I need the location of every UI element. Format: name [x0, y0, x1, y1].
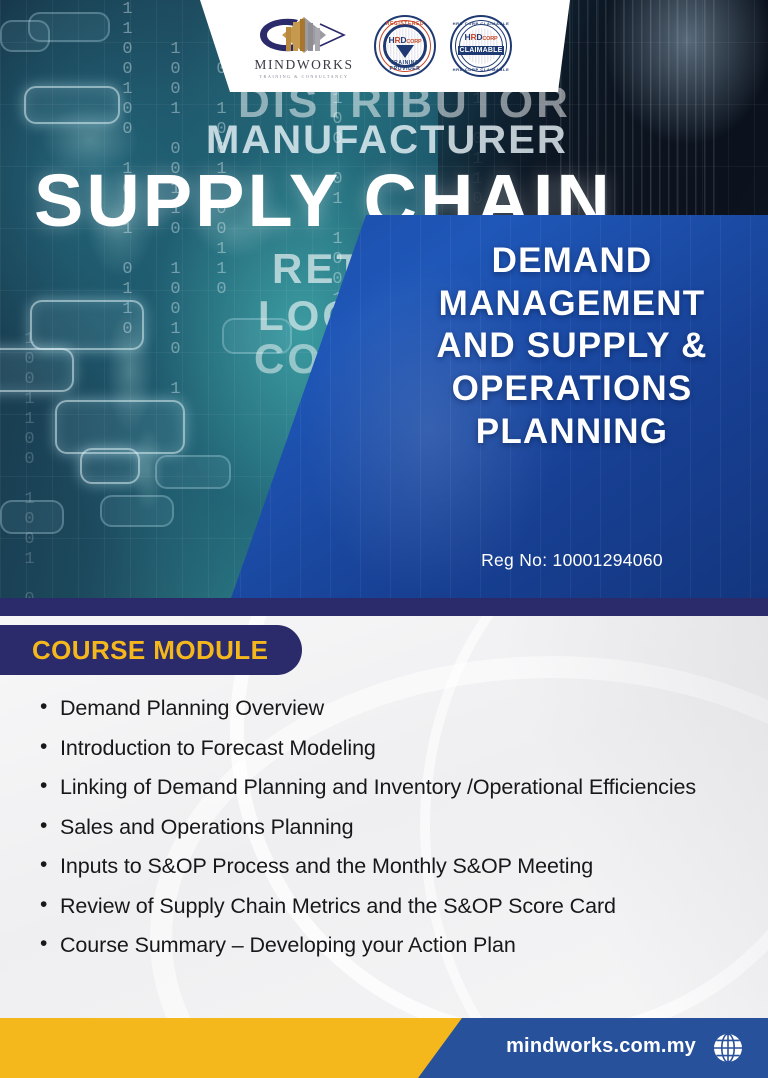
badge-claimable-banner: CLAIMABLE — [458, 46, 504, 55]
badge-arc-bottom: TRAINING PROVIDER — [376, 60, 434, 72]
globe-icon — [712, 1032, 744, 1064]
list-item: Linking of Demand Planning and Inventory… — [36, 771, 748, 805]
mindworks-logo: MINDWORKS TRAINING & CONSULTANCY — [248, 14, 360, 79]
badge-center-text: HRDCORP — [452, 32, 510, 42]
hrd-corp-claimable-badge: HRDCORP CLAIMABLE HRD CORP CLAIMABLE HRD… — [450, 15, 512, 77]
list-item: Sales and Operations Planning — [36, 811, 748, 845]
glow-panel — [100, 495, 174, 527]
list-item: Demand Planning Overview — [36, 692, 748, 726]
badge-center-text: HRDCORP — [376, 35, 434, 45]
hero-section: 01100100 1001 0110 1001 00110 10010 1 01… — [0, 0, 768, 601]
badge-corp-text: CORP — [482, 36, 497, 42]
mindworks-tagline: TRAINING & CONSULTANCY — [259, 74, 348, 79]
glow-panel — [55, 400, 185, 454]
course-title-line: DEMAND — [396, 240, 748, 283]
course-module-badge: COURSE MODULE — [0, 625, 302, 675]
registration-number: Reg No: 10001294060 — [396, 550, 748, 571]
footer-bar: mindworks.com.my — [0, 1018, 768, 1078]
badge-v-mark-icon — [396, 45, 414, 58]
course-title-line: MANAGEMENT — [396, 283, 748, 326]
list-item: Course Summary – Developing your Action … — [36, 929, 748, 963]
course-title-line: PLANNING — [396, 411, 748, 454]
glow-panel — [30, 300, 144, 350]
course-flyer: 01100100 1001 0110 1001 00110 10010 1 01… — [0, 0, 768, 1078]
course-title: DEMAND MANAGEMENT AND SUPPLY & OPERATION… — [396, 240, 748, 453]
badge-corp-text: CORP — [406, 39, 421, 45]
logo-banner: MINDWORKS TRAINING & CONSULTANCY REGISTE… — [190, 0, 570, 92]
hrd-registered-training-provider-badge: REGISTERED HRDCORP TRAINING PROVIDER — [374, 15, 436, 77]
list-item: Inputs to S&OP Process and the Monthly S… — [36, 850, 748, 884]
glow-panel — [0, 500, 64, 534]
course-module-list: Demand Planning Overview Introduction to… — [36, 692, 748, 969]
badge-arc-top: HRD CORP CLAIMABLE — [452, 21, 510, 26]
badge-arc-top: REGISTERED — [376, 21, 434, 27]
glow-panel — [24, 86, 120, 124]
course-title-line: AND SUPPLY & — [396, 325, 748, 368]
mindworks-brand-name: MINDWORKS — [254, 57, 353, 73]
website-url[interactable]: mindworks.com.my — [506, 1035, 696, 1058]
navy-divider — [0, 598, 768, 616]
course-module-badge-label: COURSE MODULE — [32, 635, 268, 666]
glow-panel — [155, 455, 231, 489]
course-title-line: OPERATIONS — [396, 368, 748, 411]
list-item: Review of Supply Chain Metrics and the S… — [36, 890, 748, 924]
glow-panel — [0, 348, 74, 392]
mindworks-mw-monogram-icon — [252, 14, 356, 56]
glow-panel — [28, 12, 110, 42]
list-item: Introduction to Forecast Modeling — [36, 732, 748, 766]
glow-panel — [80, 448, 140, 484]
bg-word-manufacturer: MANUFACTURER — [206, 118, 568, 163]
course-module-section: COURSE MODULE Demand Planning Overview I… — [0, 616, 768, 1078]
badge-arc-bottom: HRD CORP CLAIMABLE — [452, 67, 510, 72]
